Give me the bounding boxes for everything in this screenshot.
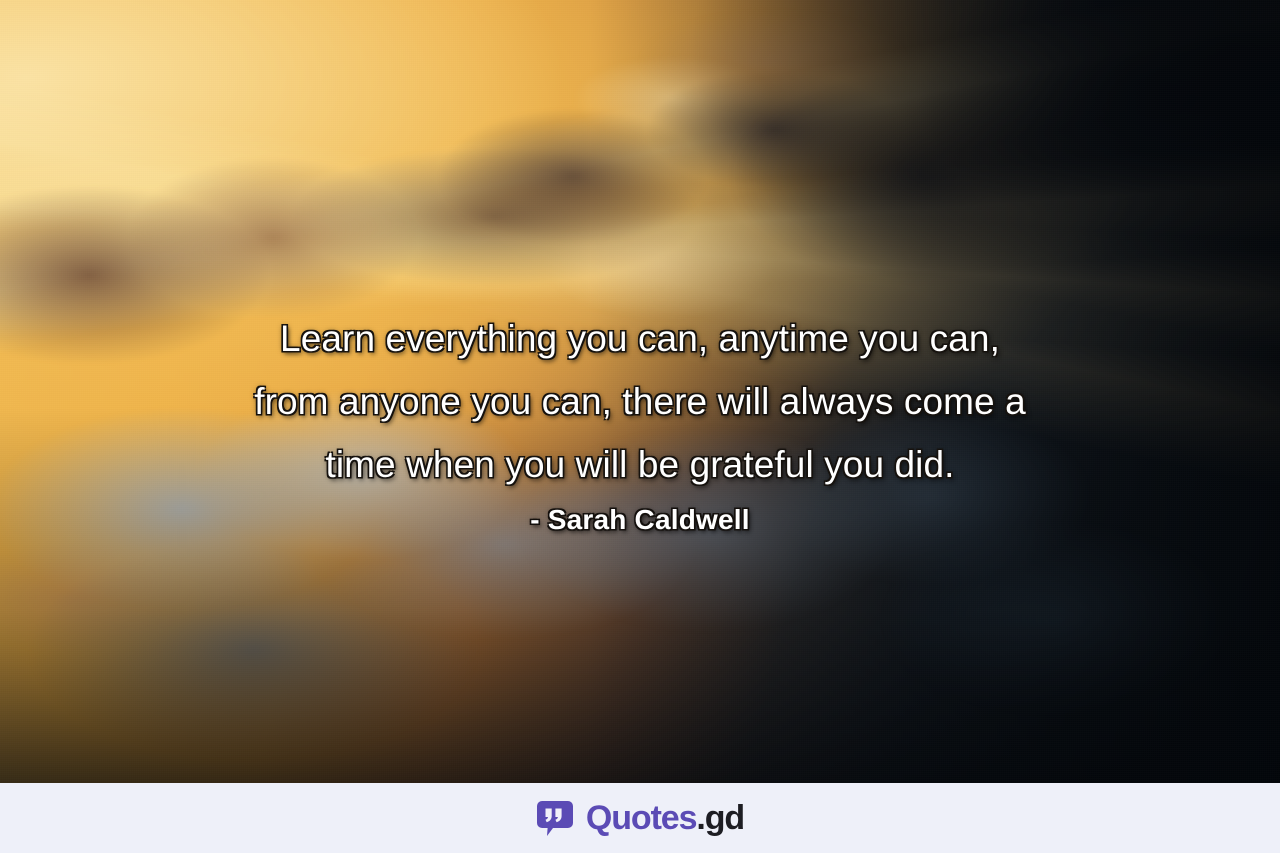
site-logo-name: Quotes (586, 799, 697, 837)
site-logo-tld: .gd (696, 799, 744, 837)
quote-text: Learn everything you can, anytime you ca… (46, 307, 1234, 496)
site-logo-link[interactable]: Quotes.gd (536, 799, 744, 837)
quote-bubble-icon (536, 799, 574, 837)
quote-image-card: Learn everything you can, anytime you ca… (0, 0, 1280, 783)
quote-block: Learn everything you can, anytime you ca… (0, 307, 1280, 536)
site-footer: Quotes.gd (0, 783, 1280, 853)
site-logo-wordmark: Quotes.gd (586, 801, 744, 835)
quote-page: Learn everything you can, anytime you ca… (0, 0, 1280, 853)
quote-author: - Sarah Caldwell (46, 504, 1234, 536)
